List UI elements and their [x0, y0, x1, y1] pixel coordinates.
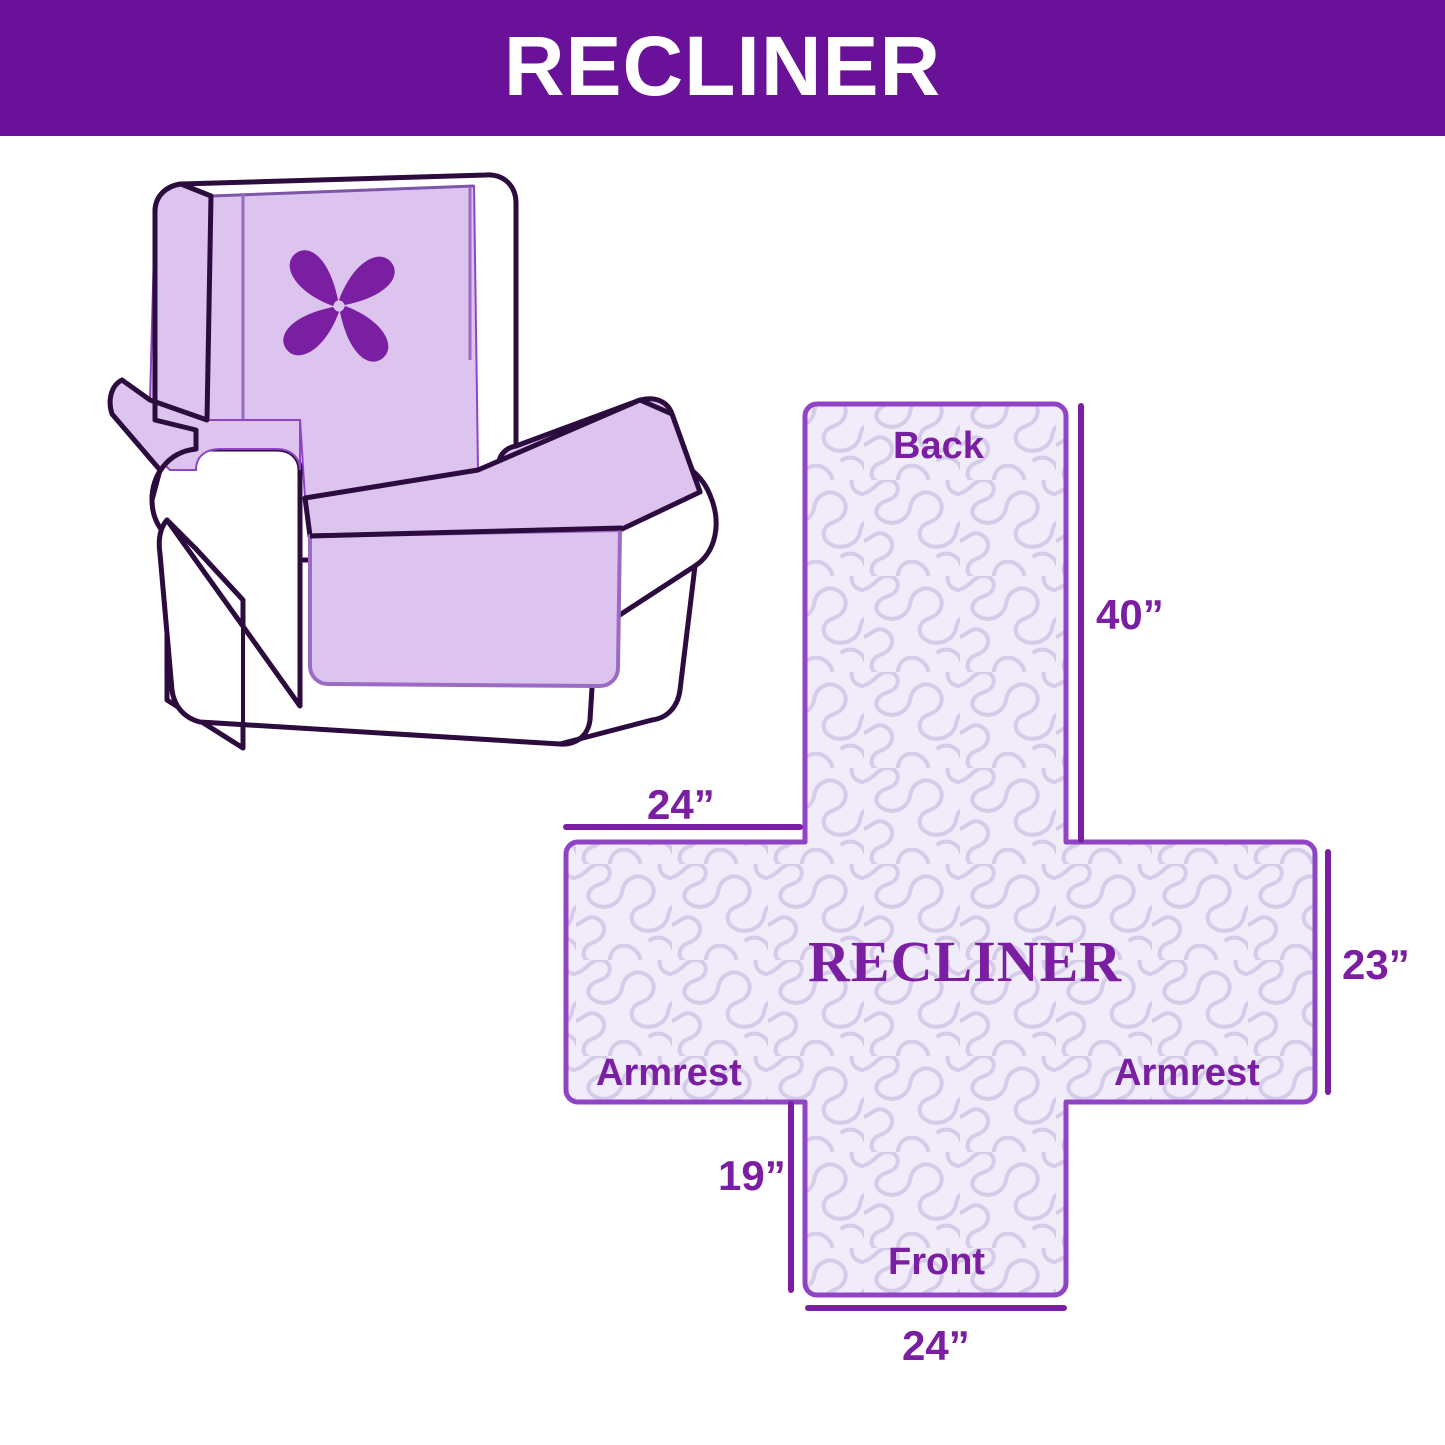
armchair-line-art: [110, 175, 716, 748]
chair-left-arm-side: [110, 184, 211, 500]
chair-base-skirt: [159, 520, 600, 744]
dimension-lines: [566, 406, 1328, 1308]
panel-label-back: Back: [893, 427, 984, 465]
dimension-label-front-width: 24”: [902, 1325, 970, 1367]
fan-blade-3: [283, 307, 339, 355]
chair-right-arm-cover: [499, 399, 700, 556]
fan-blade-4: [290, 250, 338, 306]
chair-seat-cover: [305, 400, 700, 536]
fan-blade-1: [339, 257, 395, 305]
fan-hub: [334, 301, 345, 312]
chair-back-cover: [207, 186, 478, 498]
pinwheel-fan-logo: [283, 250, 394, 361]
panel-label-front: Front: [888, 1243, 985, 1281]
chair-left-base: [167, 520, 243, 748]
header-banner: RECLINER: [0, 0, 1445, 136]
fan-blade-2: [340, 306, 388, 362]
cover-diagram: [0, 0, 1445, 1445]
product-dimension-sheet: RECLINER: [0, 0, 1445, 1445]
cover-center-label: RECLINER: [808, 933, 1122, 991]
panel-label-armrest-right: Armrest: [1114, 1054, 1260, 1092]
chair-seat-front-flap: [310, 530, 620, 686]
chair-illustration: [0, 0, 1445, 1445]
chair-right-arm-roll: [560, 455, 716, 620]
chair-back-cover-outline: [211, 186, 474, 196]
chair-seat-seam: [310, 528, 622, 536]
chair-right-lower-outline: [560, 566, 695, 744]
chair-left-arm-roll: [152, 449, 300, 706]
page-title: RECLINER: [504, 24, 941, 108]
dimension-label-armrest-width: 24”: [647, 784, 715, 826]
dimension-label-back-height: 40”: [1096, 594, 1164, 636]
dimension-label-armrest-height: 23”: [1342, 944, 1410, 986]
chair-left-arm-cover: [110, 196, 300, 470]
dimension-label-front-height: 19”: [718, 1155, 786, 1197]
panel-label-armrest-left: Armrest: [596, 1054, 742, 1092]
chair-back-shell: [155, 175, 516, 470]
cover-cross-shape[interactable]: [566, 404, 1315, 1295]
